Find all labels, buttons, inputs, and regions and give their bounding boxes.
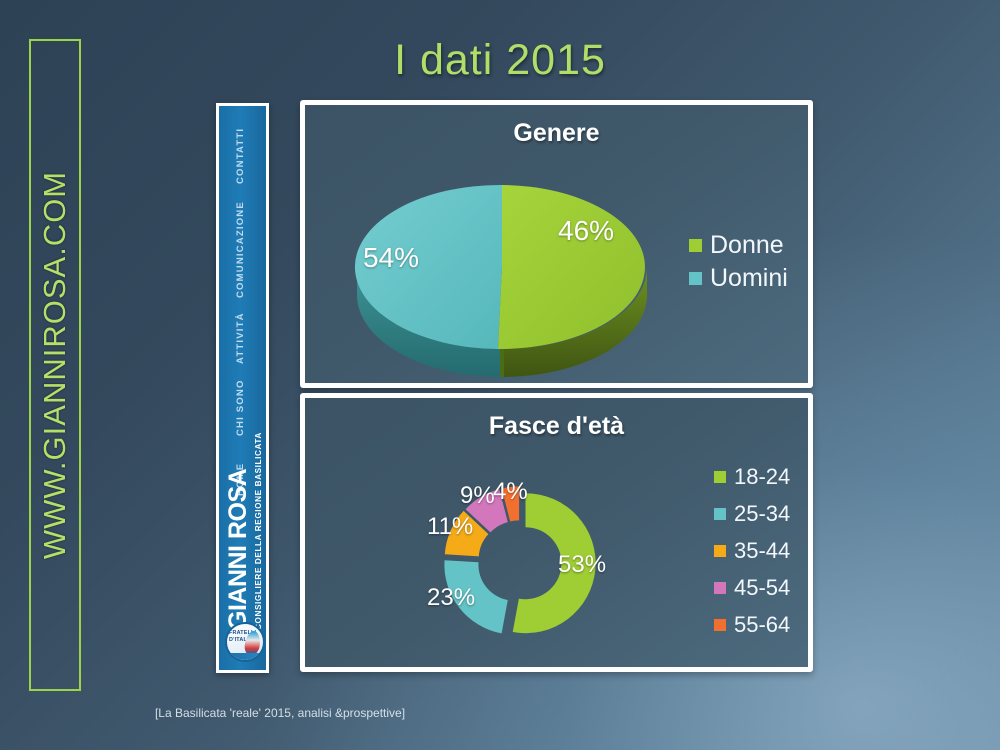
brand-subtitle: CONSIGLIERE DELLA REGIONE BASILICATA [254,432,263,630]
website-url-text: WWW.GIANNIROSA.COM [37,171,73,559]
legend-item-45-54[interactable]: 45-54 [714,577,790,599]
doughnut-label-55-64: 4% [493,478,528,506]
chart-panel-genere: Genere [300,100,813,388]
chart-title-fasce-eta: Fasce d'età [305,412,808,441]
legend-swatch-55-64 [714,619,726,631]
legend-item-donne[interactable]: Donne [689,233,788,258]
brand-block: GIANNI ROSA CONSIGLIERE DELLA REGIONE BA… [219,106,266,670]
slide-canvas: WWW.GIANNIROSA.COM HOME CHI SONO ATTIVIT… [0,0,1000,750]
pie-slice-label-uomini: 54% [363,242,419,274]
website-url-banner: WWW.GIANNIROSA.COM [29,39,81,691]
legend-swatch-donne [689,239,702,252]
fratelli-ditalia-logo-icon: FRATELLI D'ITALIA [225,622,265,662]
legend-fasce-eta: 18-24 25-34 35-44 45-54 55-64 [714,466,790,651]
slide-footer-caption: [La Basilicata 'reale' 2015, analisi &pr… [0,706,560,720]
doughnut-label-45-54: 9% [460,482,495,510]
legend-swatch-45-54 [714,582,726,594]
legend-item-55-64[interactable]: 55-64 [714,614,790,636]
legend-swatch-18-24 [714,471,726,483]
legend-swatch-uomini [689,272,702,285]
logo-base-bar [227,653,263,660]
legend-label-18-24: 18-24 [734,466,790,488]
legend-label-45-54: 45-54 [734,577,790,599]
chart-title-genere: Genere [305,119,808,148]
doughnut-label-18-24: 53% [558,551,606,579]
legend-item-25-34[interactable]: 25-34 [714,503,790,525]
legend-label-55-64: 55-64 [734,614,790,636]
legend-item-18-24[interactable]: 18-24 [714,466,790,488]
chart-panel-fasce-eta: Fasce d'età [300,393,813,672]
legend-item-uomini[interactable]: Uomini [689,266,788,291]
doughnut-label-25-34: 23% [427,584,475,612]
legend-label-uomini: Uomini [710,266,788,291]
legend-label-35-44: 35-44 [734,540,790,562]
slide-title: I dati 2015 [0,36,1000,85]
legend-label-donne: Donne [710,233,784,258]
legend-genere: Donne Uomini [689,233,788,299]
site-nav-bar[interactable]: HOME CHI SONO ATTIVITÀ COMUNICAZIONE CON… [216,103,269,673]
pie-slice-label-donne: 46% [558,215,614,247]
legend-label-25-34: 25-34 [734,503,790,525]
legend-swatch-25-34 [714,508,726,520]
legend-swatch-35-44 [714,545,726,557]
brand-name: GIANNI ROSA [224,469,253,630]
legend-item-35-44[interactable]: 35-44 [714,540,790,562]
doughnut-label-35-44: 11% [427,513,473,541]
